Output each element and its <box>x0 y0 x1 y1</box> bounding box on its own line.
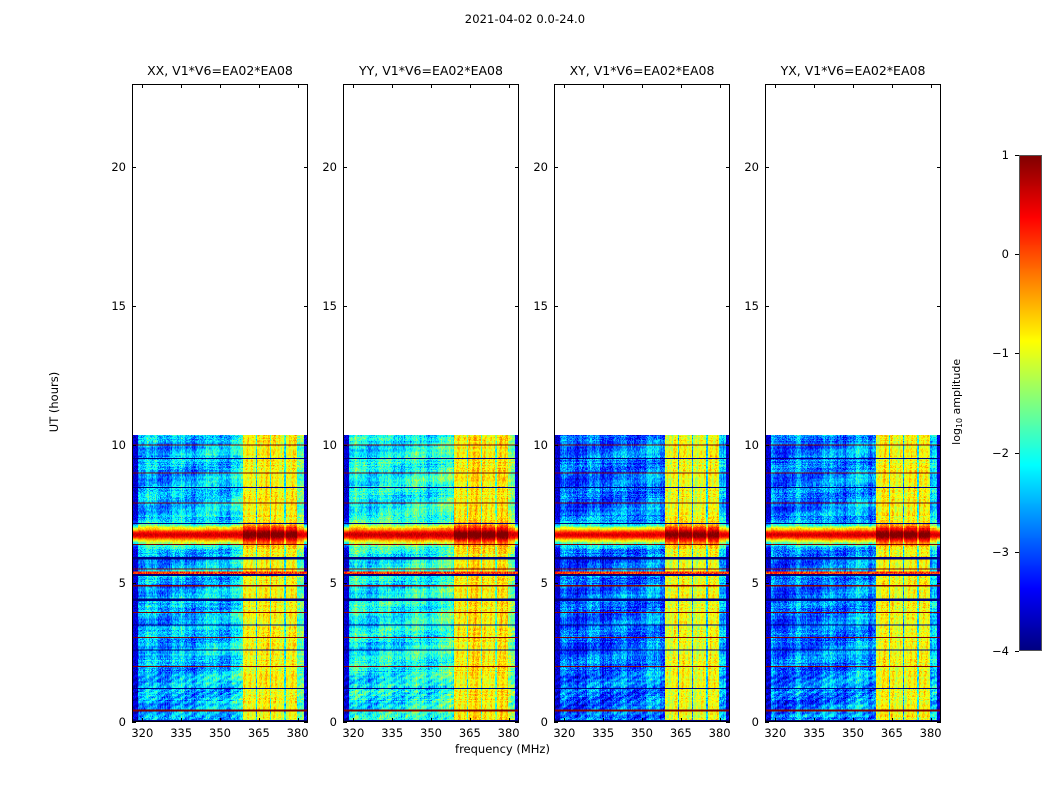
xticklabel-xx-2: 350 <box>209 726 231 740</box>
ytick-right-yy-3 <box>515 306 519 307</box>
ytick-right-xy-0 <box>726 722 730 723</box>
ytick-yy-0 <box>343 722 347 723</box>
xticklabel-xy-4: 380 <box>709 726 731 740</box>
xtick-top-yy-4 <box>509 84 510 88</box>
xtick-top-yy-3 <box>470 84 471 88</box>
panel-yx: YX, V1*V6=EA02*EA08320335350365380051015… <box>765 84 941 722</box>
ytick-xy-2 <box>554 445 558 446</box>
ytick-yy-4 <box>343 167 347 168</box>
ytick-yx-3 <box>765 306 769 307</box>
colorbar-ticklabel-0: −4 <box>977 644 1009 658</box>
xtick-top-yx-4 <box>931 84 932 88</box>
colorbar-ticklabel-1: −3 <box>977 545 1009 559</box>
xtick-top-yx-1 <box>814 84 815 88</box>
xtick-top-xy-3 <box>681 84 682 88</box>
yticklabel-yx-1: 5 <box>731 576 759 590</box>
colorbar-ticklabel-4: 0 <box>977 247 1009 261</box>
axes-frame-yx <box>765 84 941 722</box>
xtick-xx-2 <box>220 718 221 722</box>
xtick-top-xx-2 <box>220 84 221 88</box>
waterfall-image-xy <box>555 435 730 723</box>
colorbar-label-subscript: 10 <box>955 418 964 428</box>
ytick-xx-0 <box>132 722 136 723</box>
xtick-yx-1 <box>814 718 815 722</box>
yticklabel-xy-0: 0 <box>520 715 548 729</box>
colorbar-frame <box>1019 155 1042 651</box>
yticklabel-yy-4: 20 <box>309 160 337 174</box>
colorbar-tick-4 <box>1015 254 1019 255</box>
ytick-right-xx-4 <box>304 167 308 168</box>
yticklabel-yy-0: 0 <box>309 715 337 729</box>
ytick-xy-0 <box>554 722 558 723</box>
colorbar-tick-5 <box>1015 155 1019 156</box>
ytick-xy-4 <box>554 167 558 168</box>
xticklabel-xy-0: 320 <box>553 726 575 740</box>
xticklabel-yx-4: 380 <box>920 726 942 740</box>
panel-yy: YY, V1*V6=EA02*EA08320335350365380051015… <box>343 84 519 722</box>
yticklabel-xy-4: 20 <box>520 160 548 174</box>
panel-xx: XX, V1*V6=EA02*EA08320335350365380051015… <box>132 84 308 722</box>
ytick-right-yx-4 <box>937 167 941 168</box>
ytick-yx-2 <box>765 445 769 446</box>
yticklabel-xy-2: 10 <box>520 438 548 452</box>
ytick-xy-1 <box>554 583 558 584</box>
yticklabel-xx-1: 5 <box>98 576 126 590</box>
panel-title-xy: XY, V1*V6=EA02*EA08 <box>554 63 730 78</box>
axes-frame-xy <box>554 84 730 722</box>
ytick-right-yy-4 <box>515 167 519 168</box>
waterfall-image-xx <box>133 435 308 723</box>
xtick-top-yy-1 <box>392 84 393 88</box>
xtick-xy-1 <box>603 718 604 722</box>
xtick-top-xx-3 <box>259 84 260 88</box>
xtick-yy-0 <box>353 718 354 722</box>
xticklabel-yy-1: 335 <box>381 726 403 740</box>
xtick-top-xx-4 <box>298 84 299 88</box>
axes-frame-xx <box>132 84 308 722</box>
colorbar-label: log10 amplitude <box>950 322 964 482</box>
xtick-top-xy-4 <box>720 84 721 88</box>
xticklabel-yy-0: 320 <box>342 726 364 740</box>
xtick-yx-4 <box>931 718 932 722</box>
xtick-yx-3 <box>892 718 893 722</box>
xtick-xy-2 <box>642 718 643 722</box>
xticklabel-yy-2: 350 <box>420 726 442 740</box>
colorbar <box>1019 155 1042 651</box>
ytick-yx-0 <box>765 722 769 723</box>
colorbar-ticklabel-5: 1 <box>977 148 1009 162</box>
figure-suptitle: 2021-04-02 0.0-24.0 <box>0 12 1050 26</box>
ytick-right-xx-2 <box>304 445 308 446</box>
colorbar-label-prefix: log <box>950 428 963 445</box>
ytick-xx-1 <box>132 583 136 584</box>
colorbar-label-suffix: amplitude <box>950 359 963 418</box>
xtick-top-yy-0 <box>353 84 354 88</box>
ytick-right-yx-1 <box>937 583 941 584</box>
yticklabel-yx-2: 10 <box>731 438 759 452</box>
xticklabel-xx-3: 365 <box>248 726 270 740</box>
xtick-yy-2 <box>431 718 432 722</box>
yticklabel-xx-3: 15 <box>98 299 126 313</box>
colorbar-tick-3 <box>1015 353 1019 354</box>
xtick-top-yy-2 <box>431 84 432 88</box>
figure-canvas: 2021-04-02 0.0-24.0 XX, V1*V6=EA02*EA083… <box>0 0 1050 800</box>
yticklabel-xx-2: 10 <box>98 438 126 452</box>
xtick-xy-4 <box>720 718 721 722</box>
waterfall-image-yx <box>766 435 941 723</box>
xticklabel-xy-3: 365 <box>670 726 692 740</box>
xtick-yx-0 <box>775 718 776 722</box>
xticklabel-xx-1: 335 <box>170 726 192 740</box>
ytick-right-xx-1 <box>304 583 308 584</box>
panel-title-xx: XX, V1*V6=EA02*EA08 <box>132 63 308 78</box>
colorbar-tick-0 <box>1015 651 1019 652</box>
xtick-top-xx-0 <box>142 84 143 88</box>
xtick-xy-0 <box>564 718 565 722</box>
ytick-right-yx-0 <box>937 722 941 723</box>
xticklabel-yy-3: 365 <box>459 726 481 740</box>
ytick-right-yy-2 <box>515 445 519 446</box>
xtick-top-yx-0 <box>775 84 776 88</box>
xticklabel-yx-2: 350 <box>842 726 864 740</box>
xtick-xx-4 <box>298 718 299 722</box>
xtick-top-xy-2 <box>642 84 643 88</box>
yticklabel-xx-4: 20 <box>98 160 126 174</box>
yticklabel-xy-1: 5 <box>520 576 548 590</box>
ytick-right-xy-1 <box>726 583 730 584</box>
xticklabel-yx-3: 365 <box>881 726 903 740</box>
ytick-xx-3 <box>132 306 136 307</box>
x-axis-label: frequency (MHz) <box>0 742 1005 756</box>
xtick-xx-1 <box>181 718 182 722</box>
xtick-top-xx-1 <box>181 84 182 88</box>
xtick-xx-3 <box>259 718 260 722</box>
panel-xy: XY, V1*V6=EA02*EA08320335350365380051015… <box>554 84 730 722</box>
ytick-xx-2 <box>132 445 136 446</box>
ytick-right-xy-2 <box>726 445 730 446</box>
axes-frame-yy <box>343 84 519 722</box>
xticklabel-xx-0: 320 <box>131 726 153 740</box>
yticklabel-yx-0: 0 <box>731 715 759 729</box>
waterfall-image-yy <box>344 435 519 723</box>
colorbar-tick-2 <box>1015 453 1019 454</box>
xtick-yx-2 <box>853 718 854 722</box>
colorbar-ticklabel-2: −2 <box>977 446 1009 460</box>
yticklabel-yx-4: 20 <box>731 160 759 174</box>
yticklabel-yx-3: 15 <box>731 299 759 313</box>
xtick-yy-4 <box>509 718 510 722</box>
xticklabel-yx-0: 320 <box>764 726 786 740</box>
ytick-right-yx-2 <box>937 445 941 446</box>
xticklabel-xy-2: 350 <box>631 726 653 740</box>
xtick-top-yx-2 <box>853 84 854 88</box>
xtick-xy-3 <box>681 718 682 722</box>
xtick-yy-3 <box>470 718 471 722</box>
ytick-right-xx-3 <box>304 306 308 307</box>
ytick-yy-2 <box>343 445 347 446</box>
y-axis-label: UT (hours) <box>47 342 61 462</box>
yticklabel-yy-2: 10 <box>309 438 337 452</box>
ytick-yy-3 <box>343 306 347 307</box>
xtick-top-xy-1 <box>603 84 604 88</box>
ytick-right-yy-1 <box>515 583 519 584</box>
ytick-right-yy-0 <box>515 722 519 723</box>
yticklabel-yy-1: 5 <box>309 576 337 590</box>
ytick-right-xy-4 <box>726 167 730 168</box>
ytick-right-xx-0 <box>304 722 308 723</box>
panel-title-yx: YX, V1*V6=EA02*EA08 <box>765 63 941 78</box>
xtick-top-xy-0 <box>564 84 565 88</box>
xtick-yy-1 <box>392 718 393 722</box>
xtick-xx-0 <box>142 718 143 722</box>
colorbar-ticklabel-3: −1 <box>977 346 1009 360</box>
ytick-right-xy-3 <box>726 306 730 307</box>
xticklabel-xx-4: 380 <box>287 726 309 740</box>
ytick-xy-3 <box>554 306 558 307</box>
xticklabel-xy-1: 335 <box>592 726 614 740</box>
xtick-top-yx-3 <box>892 84 893 88</box>
ytick-yx-1 <box>765 583 769 584</box>
colorbar-tick-1 <box>1015 552 1019 553</box>
ytick-xx-4 <box>132 167 136 168</box>
yticklabel-yy-3: 15 <box>309 299 337 313</box>
xticklabel-yy-4: 380 <box>498 726 520 740</box>
ytick-yy-1 <box>343 583 347 584</box>
yticklabel-xy-3: 15 <box>520 299 548 313</box>
xticklabel-yx-1: 335 <box>803 726 825 740</box>
panel-title-yy: YY, V1*V6=EA02*EA08 <box>343 63 519 78</box>
yticklabel-xx-0: 0 <box>98 715 126 729</box>
ytick-yx-4 <box>765 167 769 168</box>
ytick-right-yx-3 <box>937 306 941 307</box>
